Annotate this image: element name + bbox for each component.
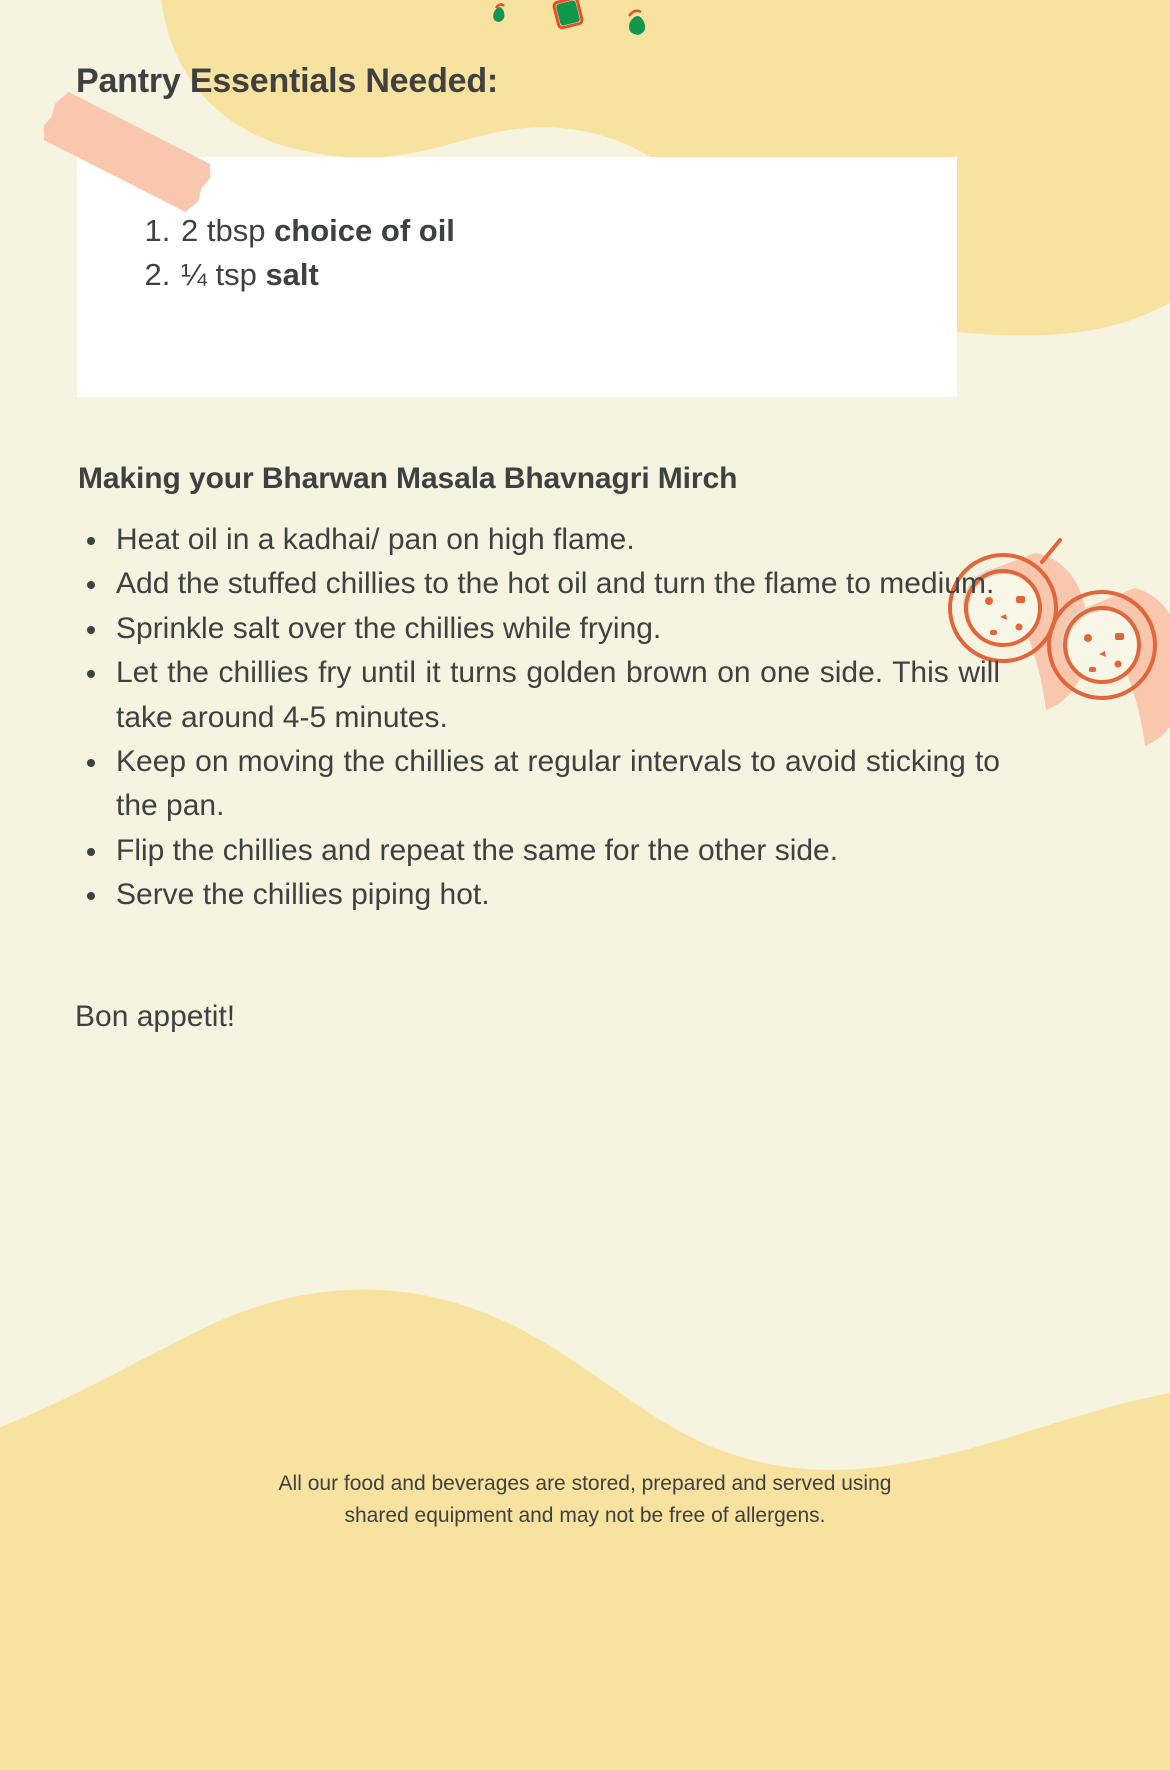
herb-fleck-2 [556,0,581,26]
herb-fleck-1-stem [496,4,504,8]
instruction-step: Heat oil in a kadhai/ pan on high flame. [110,518,1000,562]
spice-jar-2-spice-dots [1084,633,1124,672]
spice-jar-2-inner-shade [1062,605,1136,679]
disclaimer-line-2: shared equipment and may not be free of … [0,1500,1170,1532]
spice-jar-2-inner-ring [1065,608,1139,682]
spice-jar-2-outer-ring [1049,592,1155,698]
instruction-step: Add the stuffed chillies to the hot oil … [110,562,1000,606]
spice-jar-2 [1049,588,1170,746]
spice-jar-2-shadow [1085,588,1170,746]
ingredient-name: salt [265,257,318,292]
ingredient-amount: ¼ tsp [181,257,265,292]
herb-fleck-2-outline [553,0,583,29]
ingredients-note-card: 2 tbsp choice of oil ¼ tsp salt [77,157,957,397]
ingredient-item: ¼ tsp salt [179,253,455,297]
instruction-step: Serve the chillies piping hot. [110,873,1000,917]
herb-fleck-group [493,0,645,35]
instruction-step: Keep on moving the chillies at regular i… [110,740,1000,829]
closing-message: Bon appetit! [75,1000,235,1034]
spice-jar-1-shadow [985,553,1088,710]
herb-fleck-3 [629,16,645,35]
instruction-step: Let the chillies fry until it turns gold… [110,651,1000,740]
herb-fleck-1 [493,7,504,22]
spice-jar-1-tick [1042,540,1060,562]
recipe-page: Pantry Essentials Needed: 2 tbsp choice … [0,0,1170,1770]
instruction-step: Sprinkle salt over the chillies while fr… [110,607,1000,651]
instructions-list: Heat oil in a kadhai/ pan on high flame.… [52,518,1000,918]
ingredient-item: 2 tbsp choice of oil [179,209,455,253]
allergen-disclaimer: All our food and beverages are stored, p… [0,1468,1170,1531]
ingredient-amount: 2 tbsp [181,213,274,248]
herb-fleck-3-stem [629,11,641,16]
instructions-heading: Making your Bharwan Masala Bhavnagri Mir… [78,462,737,496]
ingredients-list: 2 tbsp choice of oil ¼ tsp salt [137,209,455,297]
ingredient-name: choice of oil [274,213,455,248]
instruction-step: Flip the chillies and repeat the same fo… [110,829,1000,873]
spice-jar-2-inner-fill [1068,611,1140,683]
pantry-essentials-heading: Pantry Essentials Needed: [76,62,498,101]
disclaimer-line-1: All our food and beverages are stored, p… [0,1468,1170,1500]
